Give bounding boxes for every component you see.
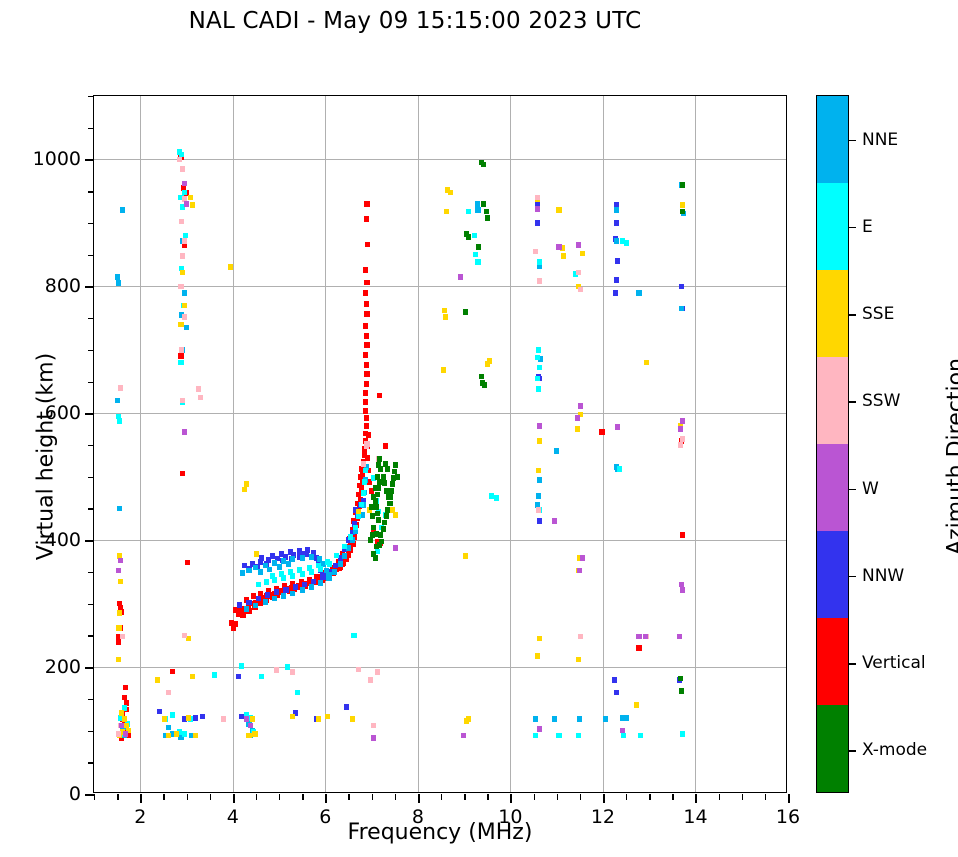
echo-point-sse <box>246 733 251 739</box>
echo-point-w <box>458 274 463 280</box>
echo-point-x-mode <box>384 488 389 494</box>
echo-point-sse <box>464 718 469 724</box>
x-axis-tick <box>765 794 766 800</box>
colorbar-label-sse: SSE <box>862 304 894 324</box>
x-axis-tick <box>117 794 118 800</box>
x-axis-tick <box>140 794 142 803</box>
echo-point-e <box>170 712 175 718</box>
echo-point-w <box>537 423 542 429</box>
echo-point-nnw <box>615 258 620 264</box>
echo-point-ssw <box>537 278 542 284</box>
echo-point-nne <box>614 238 619 244</box>
y-axis-tick <box>88 223 94 224</box>
y-axis-tick <box>88 350 94 351</box>
echo-point-nnw <box>157 709 162 715</box>
y-axis-tick-label: 200 <box>45 656 81 678</box>
echo-point-x-mode <box>395 474 400 480</box>
echo-point-e <box>537 365 542 371</box>
echo-point-x-mode <box>382 480 387 486</box>
echo-point-ssw <box>361 461 366 467</box>
echo-point-sse <box>254 551 259 557</box>
echo-point-x-mode <box>680 209 685 215</box>
echo-point-x-mode <box>375 474 380 480</box>
echo-point-nnw <box>614 277 619 283</box>
y-axis-tick <box>88 191 94 192</box>
echo-point-sse <box>556 207 561 213</box>
echo-point-w <box>677 634 682 640</box>
echo-point-vertical <box>363 323 368 329</box>
echo-point-nne <box>117 506 122 512</box>
echo-point-sse <box>356 509 361 515</box>
echo-point-nne <box>475 207 480 213</box>
echo-point-x-mode <box>466 234 471 240</box>
y-axis-tick <box>88 635 94 636</box>
echo-point-e <box>285 664 290 670</box>
echo-point-sse <box>443 314 448 320</box>
echo-point-nne <box>290 556 295 562</box>
echo-point-ssw <box>196 386 201 392</box>
x-axis-tick <box>719 794 720 800</box>
echo-point-ssw <box>290 669 295 675</box>
echo-point-nnw <box>270 553 275 559</box>
echo-point-vertical <box>170 669 175 675</box>
echo-point-nne <box>475 201 480 207</box>
echo-point-ssw <box>118 385 123 391</box>
echo-point-x-mode <box>377 456 382 462</box>
x-axis-tick <box>510 794 512 803</box>
echo-point-nne <box>300 587 305 593</box>
echo-point-nnw <box>612 677 617 683</box>
echo-point-e <box>556 733 561 739</box>
colorbar-label-x-mode: X-mode <box>862 740 927 760</box>
echo-point-vertical <box>363 352 368 358</box>
echo-point-e <box>300 571 305 577</box>
echo-point-vertical <box>365 455 370 461</box>
echo-point-w <box>244 716 249 722</box>
echo-point-sse <box>536 468 541 474</box>
echo-point-nne <box>300 555 305 561</box>
echo-point-x-mode <box>678 676 683 682</box>
x-axis-tick <box>187 794 188 800</box>
echo-point-nnw <box>193 715 198 721</box>
echo-point-sse <box>122 716 127 722</box>
echo-point-ssw <box>116 731 121 737</box>
echo-point-sse <box>182 303 187 309</box>
echo-point-x-mode <box>376 462 381 468</box>
x-axis-tick <box>487 794 488 800</box>
echo-point-w <box>680 587 685 593</box>
colorbar-label-ssw: SSW <box>862 391 900 411</box>
echo-point-sse <box>448 190 453 196</box>
echo-point-nne <box>536 493 541 499</box>
echo-point-x-mode <box>481 162 486 168</box>
echo-point-vertical <box>364 381 369 387</box>
echo-point-nnw <box>279 551 284 557</box>
echo-point-sse <box>180 270 185 276</box>
echo-point-ssw <box>180 253 185 259</box>
echo-point-ssw <box>678 442 683 448</box>
ionogram-plot-area: 02004006008001000246810121416 <box>93 95 787 793</box>
x-axis-tick <box>372 794 373 800</box>
colorbar-segment-e <box>817 183 848 270</box>
y-axis-tick <box>88 572 94 573</box>
echo-point-nnw <box>237 602 242 608</box>
echo-point-x-mode <box>463 309 468 315</box>
echo-point-vertical <box>383 443 388 449</box>
echo-point-sse <box>118 579 123 585</box>
echo-point-sse <box>119 710 124 716</box>
y-axis-tick <box>85 286 94 288</box>
echo-point-e <box>342 544 347 550</box>
y-axis-tick <box>88 477 94 478</box>
echo-point-e <box>239 663 244 669</box>
colorbar-segment-sse <box>817 270 848 357</box>
echo-point-nne <box>290 591 295 597</box>
echo-point-nne <box>244 606 249 612</box>
x-axis-tick <box>163 794 164 800</box>
x-axis-tick <box>557 794 558 800</box>
echo-point-x-mode <box>388 501 393 507</box>
echo-point-nnw <box>200 714 205 720</box>
echo-point-vertical <box>229 620 234 626</box>
echo-point-sse <box>561 253 566 259</box>
echo-point-sse <box>535 653 540 659</box>
echo-point-sse <box>193 733 198 739</box>
echo-point-sse <box>155 677 160 683</box>
echo-point-vertical <box>599 429 604 435</box>
echo-point-vertical <box>116 639 121 645</box>
echo-point-nne <box>263 599 268 605</box>
echo-point-nnw <box>265 592 270 598</box>
echo-point-vertical <box>363 390 368 396</box>
x-axis-tick <box>256 794 257 800</box>
echo-point-nnw <box>613 290 618 296</box>
colorbar-segment-vertical <box>817 618 848 705</box>
y-axis-tick <box>88 128 94 129</box>
echo-point-ssw <box>120 634 125 640</box>
echo-point-e <box>359 502 364 508</box>
echo-point-x-mode <box>485 215 490 221</box>
colorbar-label-e: E <box>862 217 873 237</box>
echo-point-vertical <box>680 532 685 538</box>
echo-point-ssw <box>578 634 583 640</box>
echo-point-e <box>536 386 541 392</box>
echo-point-sse <box>178 322 183 328</box>
x-axis-tick <box>626 794 627 800</box>
echo-point-sse <box>188 195 193 201</box>
echo-point-ssw <box>535 195 540 201</box>
echo-point-x-mode <box>384 513 389 519</box>
echo-point-x-mode <box>393 462 398 468</box>
echo-point-e <box>617 466 622 472</box>
echo-point-vertical <box>178 353 183 359</box>
echo-point-vertical <box>364 201 369 207</box>
echo-point-x-mode <box>373 555 378 561</box>
colorbar-title: Azimuth Direction <box>944 307 958 607</box>
echo-point-nne <box>115 274 120 280</box>
echo-point-vertical <box>364 362 369 368</box>
echo-point-ssw <box>178 284 183 290</box>
x-axis-tick <box>302 794 303 800</box>
echo-point-vertical <box>377 393 382 399</box>
echo-point-x-mode <box>373 485 378 491</box>
x-axis-tick <box>464 794 465 800</box>
echo-point-ssw <box>182 314 187 320</box>
echo-point-nne <box>614 207 619 213</box>
x-axis-tick <box>395 794 396 800</box>
echo-point-nnw <box>305 547 310 553</box>
x-axis-tick <box>742 794 743 800</box>
echo-point-nne <box>115 398 120 404</box>
echo-point-ssw <box>180 398 185 404</box>
echo-point-nne <box>624 715 629 721</box>
echo-point-w <box>248 723 253 729</box>
echo-point-nne <box>116 280 121 286</box>
x-axis-tick <box>603 794 605 803</box>
echo-point-sse <box>290 714 295 720</box>
echo-point-e <box>624 240 629 246</box>
x-axis-tick <box>418 794 420 803</box>
echo-point-vertical <box>180 471 185 477</box>
echo-point-x-mode <box>370 513 375 519</box>
y-axis-tick-label: 1000 <box>33 148 81 170</box>
echo-point-e <box>309 569 314 575</box>
echo-point-w <box>123 731 128 737</box>
echo-point-nnw <box>288 549 293 555</box>
echo-point-sse <box>162 716 167 722</box>
colorbar-label-vertical: Vertical <box>862 653 926 673</box>
echo-point-e <box>334 553 339 559</box>
echo-point-sse <box>174 731 179 737</box>
echo-point-ssw <box>364 441 369 447</box>
echo-point-e <box>621 733 626 739</box>
echo-point-nne <box>240 570 245 576</box>
echo-point-vertical <box>363 267 368 273</box>
echo-point-nnw <box>246 600 251 606</box>
colorbar-segment-w <box>817 444 848 531</box>
echo-point-x-mode <box>382 520 387 526</box>
echo-point-w <box>577 568 582 574</box>
y-axis-tick <box>88 699 94 700</box>
echo-point-w <box>184 201 189 207</box>
colorbar-label-nne: NNE <box>862 130 898 150</box>
colorbar-segment-nnw <box>817 531 848 618</box>
echo-point-nne <box>272 596 277 602</box>
echo-point-vertical <box>364 301 369 307</box>
echo-point-ssw <box>182 238 187 244</box>
echo-point-w <box>680 418 685 424</box>
echo-point-w <box>119 723 124 729</box>
echo-point-ssw <box>536 507 541 513</box>
echo-point-nne <box>338 561 343 567</box>
echo-point-sse <box>242 487 247 493</box>
echo-point-ssw <box>356 667 361 673</box>
echo-point-x-mode <box>368 537 373 543</box>
echo-point-ssw <box>680 436 685 442</box>
echo-point-sse <box>580 251 585 257</box>
echo-point-sse <box>116 657 121 663</box>
echo-point-nne <box>253 603 258 609</box>
colorbar-segment-x-mode <box>817 705 848 792</box>
echo-point-ssw <box>371 723 376 729</box>
echo-point-nnw <box>236 674 241 680</box>
echo-point-e <box>351 633 356 639</box>
echo-point-e <box>535 355 540 361</box>
echo-point-x-mode <box>371 494 376 500</box>
colorbar-tick <box>848 140 856 142</box>
echo-point-e <box>537 259 542 265</box>
y-axis-tick-label: 0 <box>69 783 81 805</box>
echo-point-nne <box>182 290 187 296</box>
echo-point-vertical <box>122 695 127 701</box>
echo-point-w <box>552 518 557 524</box>
echo-point-nne <box>342 553 347 559</box>
echo-point-ssw <box>179 219 184 225</box>
echo-point-ssw <box>179 347 184 353</box>
echo-point-vertical <box>123 685 128 691</box>
x-axis-tick <box>325 794 327 803</box>
echo-point-x-mode <box>476 244 481 250</box>
echo-point-vertical <box>363 399 368 405</box>
echo-point-e <box>264 579 269 585</box>
y-axis-tick <box>88 255 94 256</box>
echo-point-sse <box>316 716 321 722</box>
echo-point-e <box>318 566 323 572</box>
echo-point-nnw <box>283 587 288 593</box>
echo-point-ssw <box>221 716 226 722</box>
echo-point-e <box>256 582 261 588</box>
echo-point-x-mode <box>370 532 375 538</box>
colorbar-segment-nne <box>817 96 848 183</box>
echo-point-vertical <box>231 625 236 631</box>
colorbar-tick <box>848 401 856 403</box>
echo-point-sse <box>537 438 542 444</box>
echo-point-e <box>117 418 122 424</box>
colorbar-tick <box>848 227 856 229</box>
echo-point-x-mode <box>479 374 484 380</box>
echo-point-x-mode <box>375 511 380 517</box>
echo-point-nnw <box>297 548 302 554</box>
echo-point-nne <box>318 580 323 586</box>
echo-point-w <box>576 242 581 248</box>
y-axis-tick <box>85 540 94 542</box>
echo-point-vertical <box>364 371 369 377</box>
echo-point-nne <box>603 716 608 722</box>
echo-point-x-mode <box>378 532 383 538</box>
echo-point-e <box>535 376 540 382</box>
echo-point-vertical <box>240 612 245 618</box>
echo-point-e <box>494 495 499 501</box>
echo-point-nne <box>277 564 282 570</box>
echo-point-x-mode <box>381 526 386 532</box>
echo-point-nne <box>533 716 538 722</box>
echo-point-w <box>461 733 466 739</box>
echo-point-sse <box>190 674 195 680</box>
echo-point-nne <box>309 584 314 590</box>
x-axis-title: Frequency (MHz) <box>93 820 787 845</box>
y-axis-tick <box>88 318 94 319</box>
echo-point-x-mode <box>376 517 381 523</box>
x-axis-tick <box>580 794 581 800</box>
echo-point-nne <box>309 554 314 560</box>
echo-point-vertical <box>364 280 369 286</box>
echo-point-sse <box>442 308 447 314</box>
echo-point-sse <box>228 264 233 270</box>
echo-point-ssw <box>375 669 380 675</box>
echo-point-nne <box>552 716 557 722</box>
echo-point-x-mode <box>480 380 485 386</box>
x-axis-tick <box>94 794 95 800</box>
echo-point-e <box>536 347 541 353</box>
echo-point-nnw <box>344 704 349 710</box>
echo-point-e <box>272 577 277 583</box>
colorbar-tick <box>848 314 856 316</box>
echo-point-e <box>680 731 685 737</box>
y-axis-tick <box>88 762 94 763</box>
echo-point-w <box>393 545 398 551</box>
echo-point-nne <box>281 593 286 599</box>
chart-title: NAL CADI - May 09 15:15:00 2023 UTC <box>0 8 830 34</box>
echo-point-sse <box>350 716 355 722</box>
echo-point-e <box>466 209 471 215</box>
echo-point-vertical <box>363 408 368 414</box>
echo-point-nne <box>166 725 171 731</box>
echo-point-x-mode <box>385 466 390 472</box>
echo-point-nne <box>184 325 189 331</box>
echo-point-nnw <box>537 518 542 524</box>
echo-point-w <box>578 403 583 409</box>
echo-point-e <box>353 525 358 531</box>
echo-point-e <box>348 534 353 540</box>
echo-point-nne <box>326 575 331 581</box>
azimuth-colorbar: NNEESSESSWWNNWVerticalX-mode <box>816 95 849 793</box>
y-axis-tick <box>88 445 94 446</box>
echo-point-x-mode <box>385 507 390 513</box>
echo-point-e <box>576 733 581 739</box>
echo-point-sse <box>186 636 191 642</box>
echo-point-sse <box>576 657 581 663</box>
x-axis-tick <box>210 794 211 800</box>
echo-point-x-mode <box>386 494 391 500</box>
echo-point-nnw <box>293 584 298 590</box>
echo-point-x-mode <box>374 504 379 510</box>
echo-point-vertical <box>364 216 369 222</box>
echo-point-e <box>363 468 368 474</box>
echo-point-sse <box>463 553 468 559</box>
echo-point-vertical <box>636 645 641 651</box>
colorbar-label-nnw: NNW <box>862 566 904 586</box>
echo-point-e <box>327 561 332 567</box>
echo-point-e <box>362 479 367 485</box>
x-axis-tick <box>279 794 280 800</box>
echo-point-w <box>575 415 580 421</box>
x-axis-tick <box>441 794 442 800</box>
echo-point-nne <box>286 561 291 567</box>
y-axis-title: Virtual height (km) <box>34 307 59 607</box>
echo-point-sse <box>644 360 649 366</box>
echo-point-sse <box>186 715 191 721</box>
colorbar-segment-ssw <box>817 357 848 444</box>
echo-point-ssw <box>182 633 187 639</box>
y-axis-tick <box>85 794 94 796</box>
y-axis-tick <box>85 413 94 415</box>
echo-point-ssw <box>274 667 279 673</box>
echo-point-vertical <box>363 290 368 296</box>
echo-point-x-mode <box>680 182 685 188</box>
echo-point-sse <box>250 716 255 722</box>
echo-point-e <box>290 573 295 579</box>
echo-point-nne <box>332 569 337 575</box>
